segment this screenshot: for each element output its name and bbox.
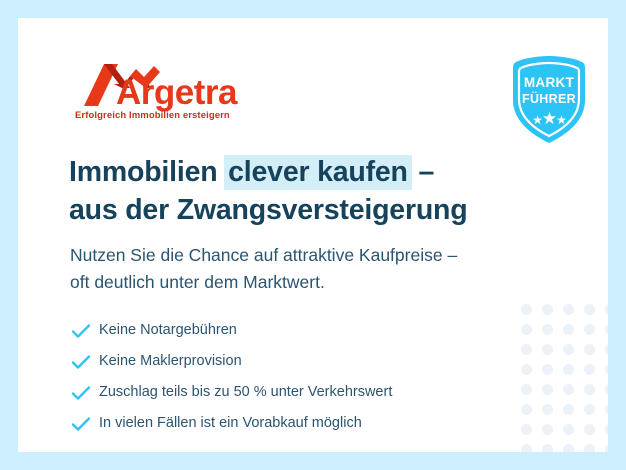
list-item: Keine Notargebühren bbox=[71, 315, 541, 346]
promo-banner: Argetra Erfolgreich Immobilien ersteiger… bbox=[0, 0, 626, 470]
decorative-dot bbox=[605, 424, 608, 435]
decorative-dot bbox=[605, 384, 608, 395]
decorative-dot bbox=[542, 424, 553, 435]
logo-wordmark: Argetra bbox=[116, 75, 237, 110]
decorative-dot bbox=[563, 384, 574, 395]
list-item: Keine Maklerprovision bbox=[71, 346, 541, 377]
subheading-line1: Nutzen Sie die Chance auf attraktive Kau… bbox=[70, 245, 457, 265]
decorative-dot bbox=[521, 444, 532, 452]
check-icon bbox=[71, 385, 99, 401]
list-item: In vielen Fällen ist ein Vorabkauf mögli… bbox=[71, 408, 541, 439]
decorative-dot bbox=[584, 384, 595, 395]
page-title: Immobilien clever kaufen – aus der Zwang… bbox=[69, 154, 549, 229]
list-item: Zuschlag teils bis zu 50 % unter Verkehr… bbox=[71, 377, 541, 408]
decorative-dot bbox=[563, 364, 574, 375]
decorative-dot bbox=[563, 444, 574, 452]
decorative-dot bbox=[542, 364, 553, 375]
decorative-dot bbox=[584, 304, 595, 315]
check-icon bbox=[71, 323, 99, 339]
headline-highlight: clever kaufen bbox=[224, 155, 412, 190]
decorative-dot bbox=[605, 364, 608, 375]
list-item-label: Keine Notargebühren bbox=[99, 323, 237, 338]
headline-line2: aus der Zwangsversteigerung bbox=[69, 194, 467, 226]
decorative-dot bbox=[605, 444, 608, 452]
banner-card: Argetra Erfolgreich Immobilien ersteiger… bbox=[18, 18, 608, 452]
decorative-dot bbox=[542, 344, 553, 355]
list-item-label: Zuschlag teils bis zu 50 % unter Verkehr… bbox=[99, 385, 392, 400]
decorative-dot bbox=[584, 444, 595, 452]
subheading: Nutzen Sie die Chance auf attraktive Kau… bbox=[70, 242, 570, 296]
decorative-dot bbox=[521, 304, 532, 315]
benefit-list: Keine Notargebühren Keine Maklerprovisio… bbox=[71, 315, 541, 439]
list-item-label: In vielen Fällen ist ein Vorabkauf mögli… bbox=[99, 416, 362, 431]
headline-line1-before: Immobilien bbox=[69, 156, 225, 188]
decorative-dot bbox=[563, 404, 574, 415]
decorative-dot bbox=[563, 344, 574, 355]
decorative-dot bbox=[605, 324, 608, 335]
headline-line1-after: – bbox=[411, 156, 434, 188]
logo-tagline: Erfolgreich Immobilien ersteigern bbox=[75, 110, 230, 121]
decorative-dot bbox=[584, 344, 595, 355]
decorative-dot bbox=[563, 324, 574, 335]
decorative-dot bbox=[584, 404, 595, 415]
decorative-dot bbox=[584, 424, 595, 435]
decorative-dot bbox=[542, 324, 553, 335]
check-icon bbox=[71, 416, 99, 432]
list-item-label: Keine Maklerprovision bbox=[99, 354, 242, 369]
decorative-dot bbox=[542, 384, 553, 395]
decorative-dot bbox=[563, 424, 574, 435]
decorative-dot bbox=[584, 324, 595, 335]
decorative-dot bbox=[584, 364, 595, 375]
market-leader-badge: MARKT FÜHRER ★★★ bbox=[508, 54, 590, 146]
decorative-dot bbox=[563, 304, 574, 315]
decorative-dot bbox=[542, 304, 553, 315]
argetra-logo[interactable]: Argetra Erfolgreich Immobilien ersteiger… bbox=[74, 58, 274, 128]
decorative-dot bbox=[542, 404, 553, 415]
decorative-dot bbox=[542, 444, 553, 452]
decorative-dot bbox=[605, 344, 608, 355]
decorative-dot bbox=[605, 404, 608, 415]
subheading-line2: oft deutlich unter dem Marktwert. bbox=[70, 272, 325, 292]
decorative-dot bbox=[605, 304, 608, 315]
check-icon bbox=[71, 354, 99, 370]
